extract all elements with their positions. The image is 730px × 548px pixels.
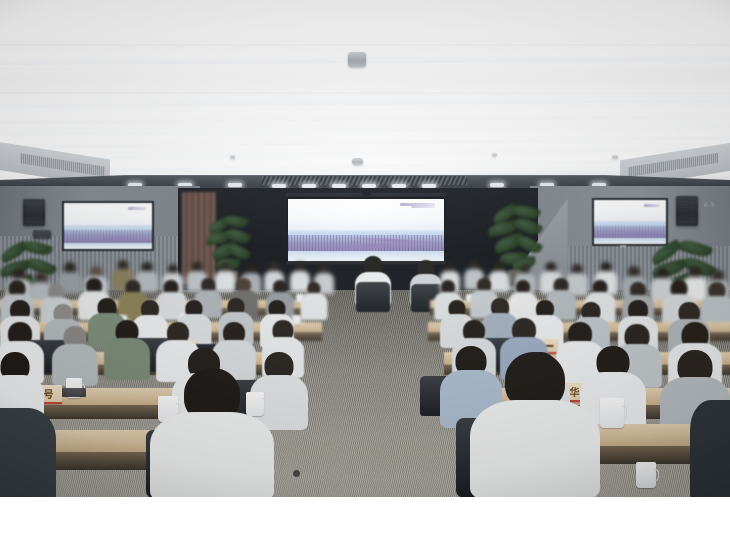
ceiling-seam [0,92,730,94]
right-side-screen[interactable] [594,200,666,244]
attendee-foreground-right [470,352,600,497]
ceiling-seam [0,44,730,46]
screen-camera-icon [362,190,371,195]
cup [600,398,624,428]
ceiling-fitting [230,155,235,159]
attendee-foreground-edge [0,408,56,497]
page-background-bottom [0,497,730,548]
attendee [104,320,150,380]
attendee-foreground-left [150,368,274,497]
left-side-screen[interactable] [64,203,152,249]
desk-caster [293,470,300,477]
ceiling-fitting [492,153,497,157]
right-wall-speaker [676,196,698,226]
front-row-chair [356,282,390,312]
cup [636,462,656,488]
pen [62,388,86,397]
attendee-foreground-edge [690,400,730,497]
photo-canvas: 2.5 ▬ [0,0,730,548]
smoke-detector-icon [352,158,363,165]
screen-logo [644,204,660,207]
ceiling-downlight [228,183,242,187]
attendee [300,282,327,320]
screen-logo [128,207,146,210]
ceiling-fitting [612,155,618,159]
conference-room-photograph: 2.5 ▬ [0,0,730,497]
ceiling-downlight [490,183,504,187]
main-led-screen[interactable] [288,199,444,261]
smoke-detector-icon [348,52,366,67]
left-wall-speaker [23,199,45,226]
right-wall-sign-lower: ▬ [620,243,627,249]
right-wall-sign: 2.5 [704,202,715,208]
attendee [52,326,98,386]
screen-water [64,243,152,249]
